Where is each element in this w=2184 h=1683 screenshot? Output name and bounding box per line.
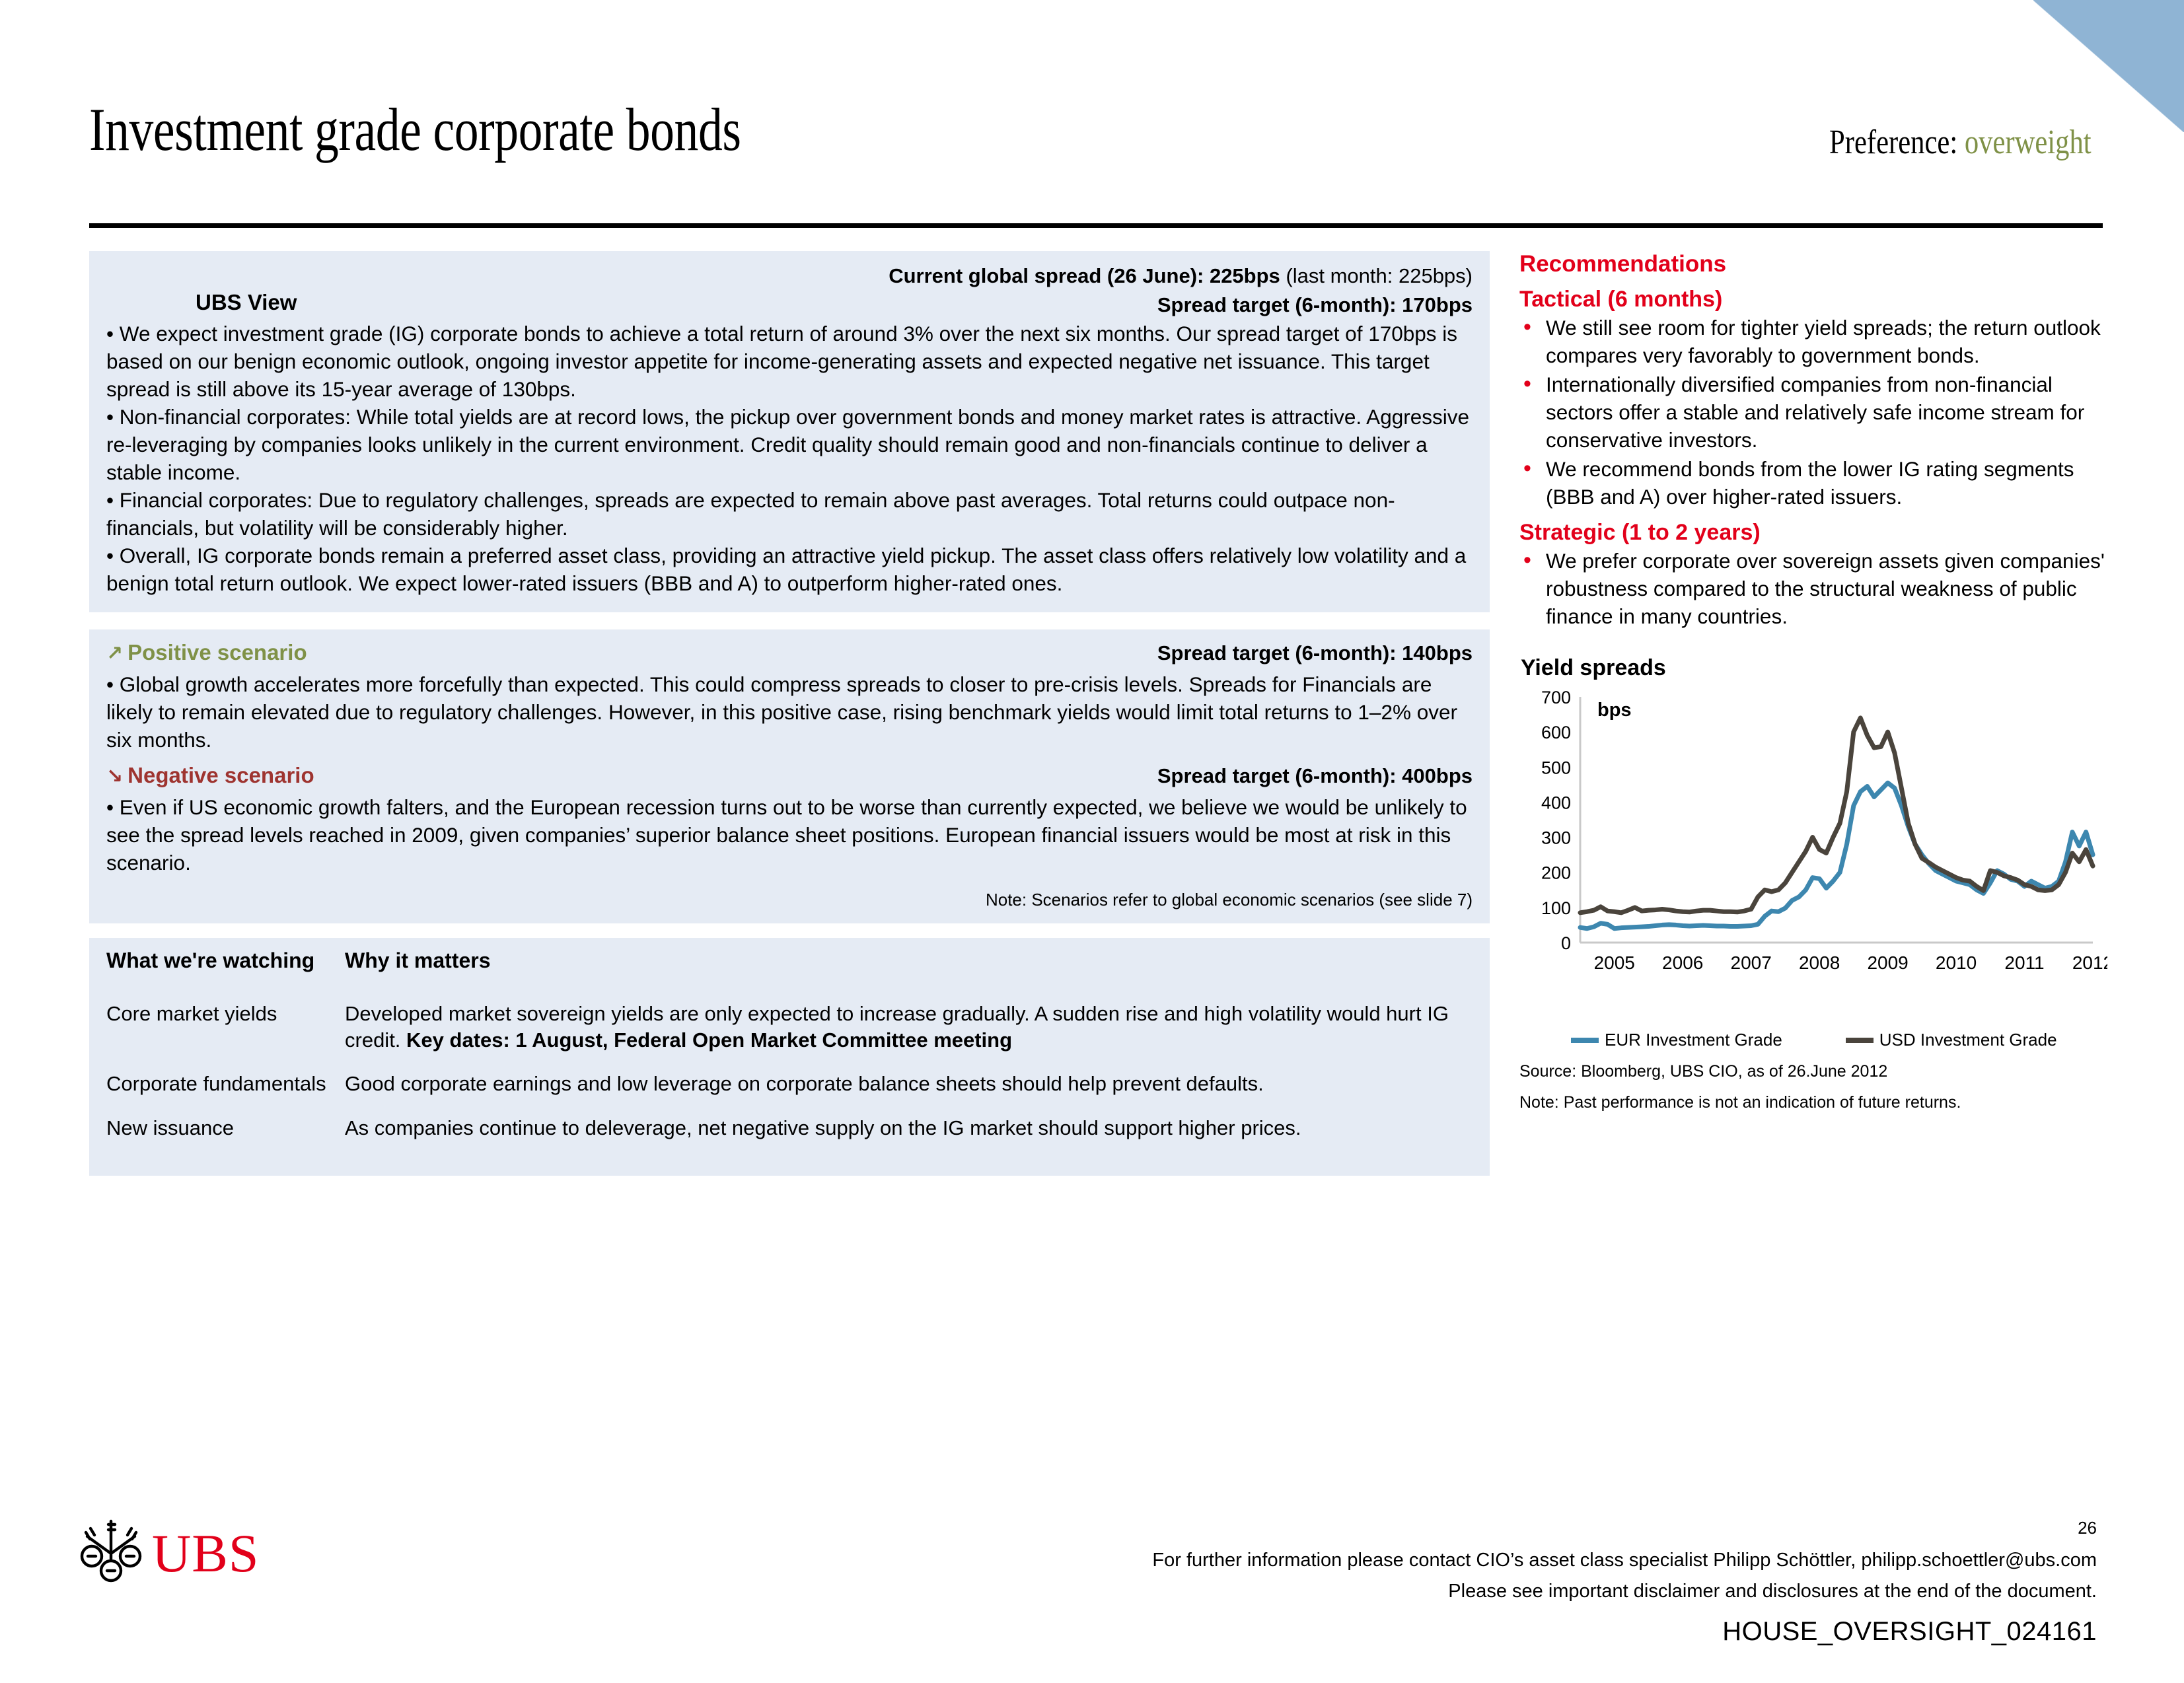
svg-text:400: 400	[1541, 793, 1571, 813]
footer-contact-line: For further information please contact C…	[1152, 1550, 2097, 1571]
tactical-list: We still see room for tighter yield spre…	[1519, 314, 2107, 511]
recommendations-heading: Recommendations	[1519, 251, 2107, 277]
strategic-list: We prefer corporate over sovereign asset…	[1519, 547, 2107, 630]
svg-text:2006: 2006	[1662, 952, 1703, 973]
legend-label-eur: EUR Investment Grade	[1605, 1030, 1782, 1050]
right-column: Recommendations Tactical (6 months) We s…	[1519, 251, 2107, 1112]
watch-reason: Developed market sovereign yields are on…	[345, 1001, 1473, 1071]
positive-scenario-text: • Global growth accelerates more forcefu…	[106, 670, 1473, 754]
arrow-down-right-icon: ↘	[106, 765, 123, 788]
negative-scenario-title: Negative scenario	[127, 763, 314, 787]
chart-legend: EUR Investment Grade USD Investment Grad…	[1571, 1030, 2107, 1050]
ubs-logo: UBS	[79, 1519, 260, 1588]
svg-text:300: 300	[1541, 828, 1571, 848]
svg-text:2007: 2007	[1731, 952, 1772, 973]
legend-swatch-usd	[1846, 1038, 1874, 1043]
left-column: Current global spread (26 June): 225bps …	[89, 251, 1490, 1176]
positive-scenario-header: ↗Positive scenario Spread target (6-mont…	[106, 640, 1473, 665]
negative-spread-target: Spread target (6-month): 400bps	[1157, 764, 1473, 788]
current-spread-bold: Current global spread (26 June): 225bps	[889, 264, 1280, 287]
list-item: We still see room for tighter yield spre…	[1519, 314, 2107, 369]
positive-scenario-title-group: ↗Positive scenario	[106, 640, 307, 665]
ubs-wordmark: UBS	[152, 1526, 260, 1581]
ubs-view-panel: Current global spread (26 June): 225bps …	[89, 251, 1490, 612]
current-spread-line: Current global spread (26 June): 225bps …	[106, 262, 1473, 291]
watching-panel: What we're watching Why it matters Core …	[89, 938, 1490, 1176]
svg-text:0: 0	[1561, 933, 1571, 953]
spread-target-line: Spread target (6-month): 170bps	[106, 291, 1473, 320]
svg-text:2011: 2011	[2004, 952, 2044, 973]
svg-text:2012: 2012	[2072, 952, 2107, 973]
scenario-panel: ↗Positive scenario Spread target (6-mont…	[89, 629, 1490, 923]
preference-block: Preference: overweight	[1829, 123, 2092, 162]
ubs-view-paragraph: • Overall, IG corporate bonds remain a p…	[106, 542, 1473, 597]
positive-spread-target: Spread target (6-month): 140bps	[1157, 641, 1473, 665]
legend-entry-usd: USD Investment Grade	[1846, 1030, 2057, 1050]
svg-text:600: 600	[1541, 723, 1571, 743]
strategic-heading: Strategic (1 to 2 years)	[1519, 520, 2107, 546]
watch-topic: Corporate fundamentals	[106, 1071, 345, 1114]
chart-disclaimer-note: Note: Past performance is not an indicat…	[1519, 1093, 2107, 1112]
page-number: 26	[2078, 1518, 2097, 1538]
yield-spreads-chart: 0100200300400500600700bps200520062007200…	[1519, 685, 2107, 1028]
watch-topic: New issuance	[106, 1115, 345, 1159]
watch-reason: As companies continue to deleverage, net…	[345, 1115, 1473, 1159]
negative-scenario-title-group: ↘Negative scenario	[106, 763, 314, 788]
scenario-note: Note: Scenarios refer to global economic…	[106, 890, 1473, 910]
svg-text:500: 500	[1541, 758, 1571, 778]
page-footer: UBS 26 For further information please co…	[0, 1518, 2184, 1683]
ubs-view-paragraph: • Financial corporates: Due to regulator…	[106, 486, 1473, 542]
watch-reason: Good corporate earnings and low leverage…	[345, 1071, 1473, 1114]
page-header: Investment grade corporate bonds Prefere…	[89, 99, 2101, 225]
svg-text:bps: bps	[1597, 700, 1632, 721]
svg-text:200: 200	[1541, 863, 1571, 883]
svg-text:700: 700	[1541, 688, 1571, 707]
negative-scenario-text: • Even if US economic growth falters, an…	[106, 793, 1473, 877]
ubs-three-keys-icon	[79, 1519, 143, 1588]
svg-text:2009: 2009	[1867, 952, 1908, 973]
table-row: Corporate fundamentals Good corporate ea…	[106, 1071, 1473, 1114]
legend-swatch-eur	[1571, 1038, 1599, 1043]
watch-reason-bold: Key dates: 1 August, Federal Open Market…	[406, 1028, 1012, 1052]
table-row: New issuance As companies continue to de…	[106, 1115, 1473, 1159]
column-header-topic: What we're watching	[106, 949, 345, 1001]
svg-text:2005: 2005	[1594, 952, 1635, 973]
ubs-view-heading: UBS View	[196, 290, 297, 315]
page-title: Investment grade corporate bonds	[89, 99, 741, 160]
list-item: We prefer corporate over sovereign asset…	[1519, 547, 2107, 630]
preference-value: overweight	[1965, 124, 2092, 161]
watch-reason-plain: As companies continue to deleverage, net…	[345, 1116, 1301, 1139]
list-item: Internationally diversified companies fr…	[1519, 371, 2107, 454]
negative-scenario-header: ↘Negative scenario Spread target (6-mont…	[106, 763, 1473, 788]
svg-text:100: 100	[1541, 898, 1571, 918]
chart-source: Source: Bloomberg, UBS CIO, as of 26.Jun…	[1519, 1062, 2107, 1081]
watching-table: What we're watching Why it matters Core …	[106, 949, 1473, 1159]
chart-canvas: 0100200300400500600700bps200520062007200…	[1519, 685, 2107, 995]
ubs-view-paragraph: • Non-financial corporates: While total …	[106, 403, 1473, 486]
spread-target-value: Spread target (6-month): 170bps	[1157, 293, 1473, 316]
current-spread-light: (last month: 225bps)	[1280, 264, 1473, 287]
table-row: Core market yields Developed market sove…	[106, 1001, 1473, 1071]
table-header-row: What we're watching Why it matters	[106, 949, 1473, 1001]
list-item: We recommend bonds from the lower IG rat…	[1519, 455, 2107, 511]
footer-disclaimer-line: Please see important disclaimer and disc…	[1448, 1581, 2097, 1602]
arrow-up-right-icon: ↗	[106, 642, 123, 665]
preference-label: Preference:	[1829, 124, 1957, 161]
column-header-reason: Why it matters	[345, 949, 1473, 1001]
tactical-heading: Tactical (6 months)	[1519, 287, 2107, 312]
header-divider	[89, 223, 2103, 228]
bates-number: HOUSE_OVERSIGHT_024161	[1722, 1617, 2097, 1647]
chart-title: Yield spreads	[1521, 655, 2107, 681]
legend-label-usd: USD Investment Grade	[1879, 1030, 2057, 1050]
watch-topic: Core market yields	[106, 1001, 345, 1071]
watch-reason-plain: Good corporate earnings and low leverage…	[345, 1072, 1264, 1095]
ubs-view-paragraph: • We expect investment grade (IG) corpor…	[106, 320, 1473, 403]
legend-entry-eur: EUR Investment Grade	[1571, 1030, 1782, 1050]
svg-text:2010: 2010	[1936, 952, 1977, 973]
svg-text:2008: 2008	[1799, 952, 1840, 973]
positive-scenario-title: Positive scenario	[127, 640, 307, 664]
